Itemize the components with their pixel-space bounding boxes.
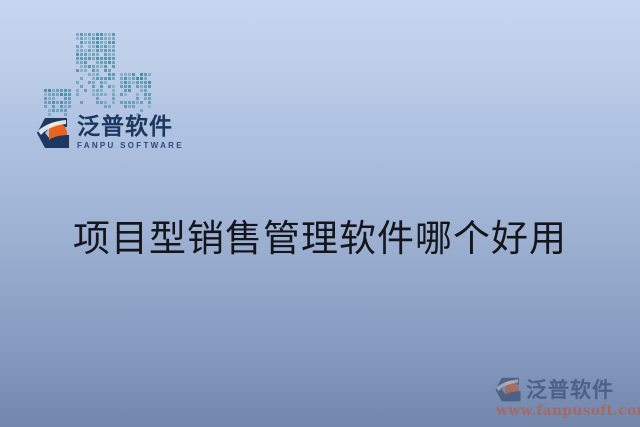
watermark-logo-row: 泛普软件 [494,376,634,402]
watermark-url: www.fanpusoft.com [494,403,634,419]
brand-name-cn: 泛普软件 [77,116,184,139]
fanpu-logo-emblem-icon [36,117,70,149]
watermark: 泛普软件 www.fanpusoft.com [494,376,634,419]
brand-name-en: FANPU SOFTWARE [77,142,184,150]
brand-wordmark: 泛普软件 FANPU SOFTWARE [77,116,184,150]
fanpu-watermark-emblem-icon [494,377,522,402]
page-title: 项目型销售管理软件哪个好用 [0,208,640,262]
brand-logo: 泛普软件 FANPU SOFTWARE [36,112,184,154]
pixel-city-skyline-icon [44,33,162,118]
watermark-name-cn: 泛普软件 [526,374,614,404]
image-canvas: 泛普软件 FANPU SOFTWARE 项目型销售管理软件哪个好用 泛普软件 w… [0,0,640,427]
